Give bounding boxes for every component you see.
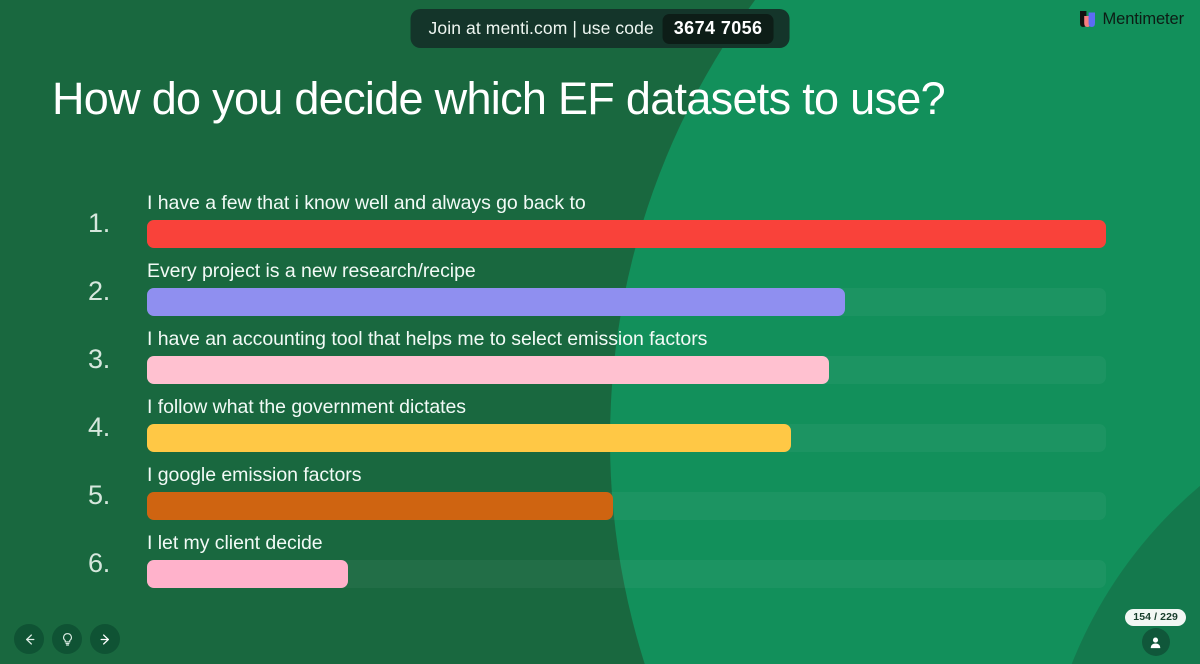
next-slide-button[interactable]	[90, 624, 120, 654]
result-rank: 6.	[88, 548, 130, 579]
result-row: 5. I google emission factors	[0, 458, 1200, 526]
result-bar	[147, 560, 348, 588]
insights-button[interactable]	[52, 624, 82, 654]
result-rank: 1.	[88, 208, 130, 239]
result-bar	[147, 220, 1106, 248]
result-label: Every project is a new research/recipe	[147, 260, 476, 283]
mentimeter-brand: Mentimeter	[1080, 10, 1184, 29]
participants-button[interactable]	[1142, 628, 1170, 656]
result-bar	[147, 492, 613, 520]
result-bar-track	[147, 356, 1106, 384]
result-label: I google emission factors	[147, 464, 361, 487]
result-row: 1. I have a few that i know well and alw…	[0, 186, 1200, 254]
previous-slide-button[interactable]	[14, 624, 44, 654]
mentimeter-logo-mark-icon	[1080, 11, 1095, 28]
join-code: 3674 7056	[663, 14, 774, 44]
join-banner: Join at menti.com | use code 3674 7056	[411, 9, 790, 48]
result-bar	[147, 424, 791, 452]
person-icon	[1148, 635, 1163, 650]
lightbulb-icon	[60, 632, 75, 647]
result-rank: 4.	[88, 412, 130, 443]
slide-navigation	[14, 624, 120, 654]
result-row: 3. I have an accounting tool that helps …	[0, 322, 1200, 390]
result-bar	[147, 356, 829, 384]
result-bar-track	[147, 560, 1106, 588]
result-bar	[147, 288, 845, 316]
join-instruction-text: Join at menti.com | use code	[429, 18, 654, 39]
result-rank: 5.	[88, 480, 130, 511]
presentation-slide: Join at menti.com | use code 3674 7056 M…	[0, 0, 1200, 664]
result-bar-track	[147, 288, 1106, 316]
page-title: How do you decide which EF datasets to u…	[52, 72, 1112, 126]
result-row: 6. I let my client decide	[0, 526, 1200, 594]
result-bar-track	[147, 424, 1106, 452]
participants-indicator: 154 / 229	[1125, 609, 1186, 656]
arrow-right-icon	[98, 632, 113, 647]
result-bar-track	[147, 220, 1106, 248]
result-rank: 3.	[88, 344, 130, 375]
result-label: I follow what the government dictates	[147, 396, 466, 419]
result-rank: 2.	[88, 276, 130, 307]
result-row: 4. I follow what the government dictates	[0, 390, 1200, 458]
result-label: I let my client decide	[147, 532, 323, 555]
result-row: 2. Every project is a new research/recip…	[0, 254, 1200, 322]
poll-results-list: 1. I have a few that i know well and alw…	[0, 186, 1200, 594]
result-label: I have a few that i know well and always…	[147, 192, 586, 215]
brand-name: Mentimeter	[1102, 10, 1184, 29]
arrow-left-icon	[22, 632, 37, 647]
result-bar-track	[147, 492, 1106, 520]
participant-count-badge: 154 / 229	[1125, 609, 1186, 626]
result-label: I have an accounting tool that helps me …	[147, 328, 707, 351]
